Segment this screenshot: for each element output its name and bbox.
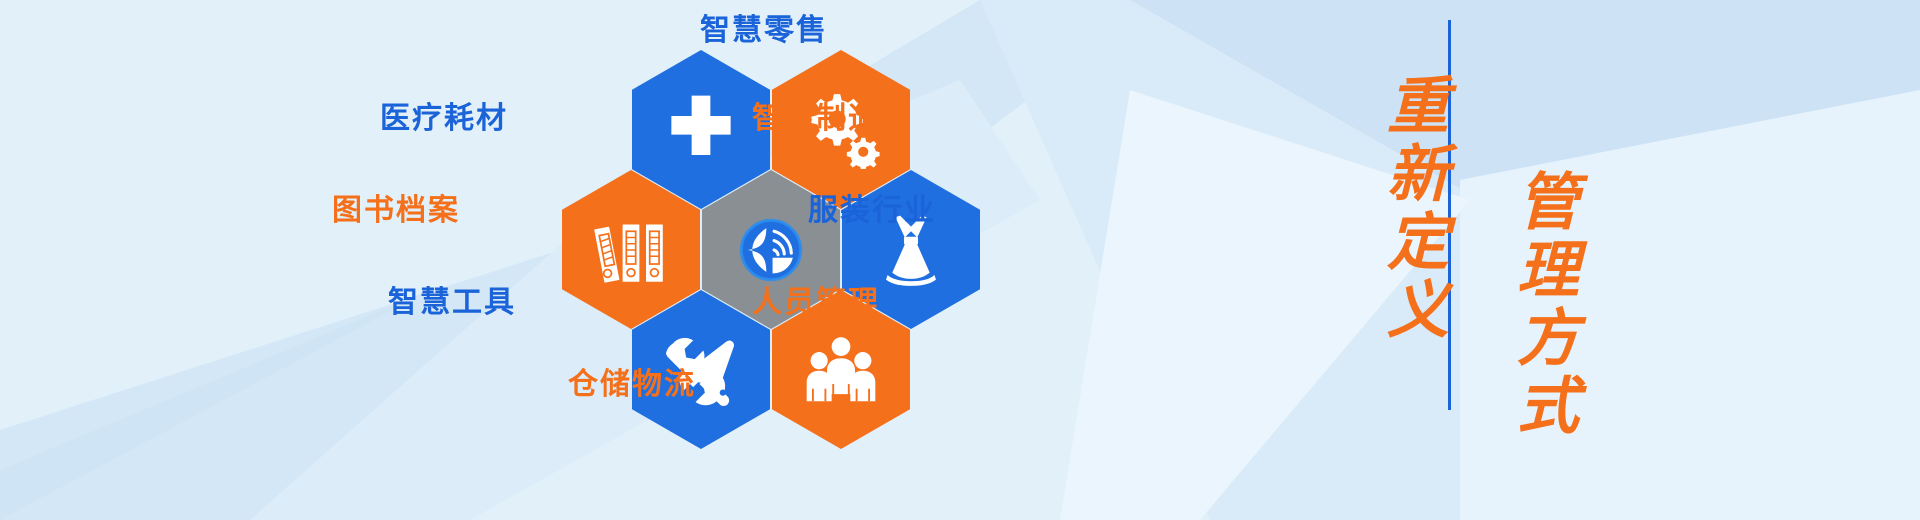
banner-root: 智慧零售 医疗耗材 智能制造 图书档案 服装行业 智慧工具 人员管理 仓储物流 …: [0, 0, 1920, 520]
label-retail: 智慧零售: [700, 16, 828, 46]
label-personnel: 人员管理: [752, 288, 880, 318]
label-medical: 医疗耗材: [380, 104, 508, 134]
label-logistics: 仓储物流: [568, 370, 696, 400]
people-group-icon: [802, 331, 880, 409]
label-apparel: 服装行业: [808, 196, 936, 226]
rfid-signal-logo-icon: [732, 211, 810, 289]
label-archive: 图书档案: [332, 196, 460, 226]
medical-cross-icon: [662, 91, 740, 169]
label-tools: 智慧工具: [388, 288, 516, 318]
headline-left-column: 重新定义: [1348, 14, 1448, 404]
binders-books-icon: [592, 211, 670, 289]
headline-right-column: 管理方式: [1478, 110, 1578, 500]
label-manufacture: 智能制造: [752, 104, 880, 134]
